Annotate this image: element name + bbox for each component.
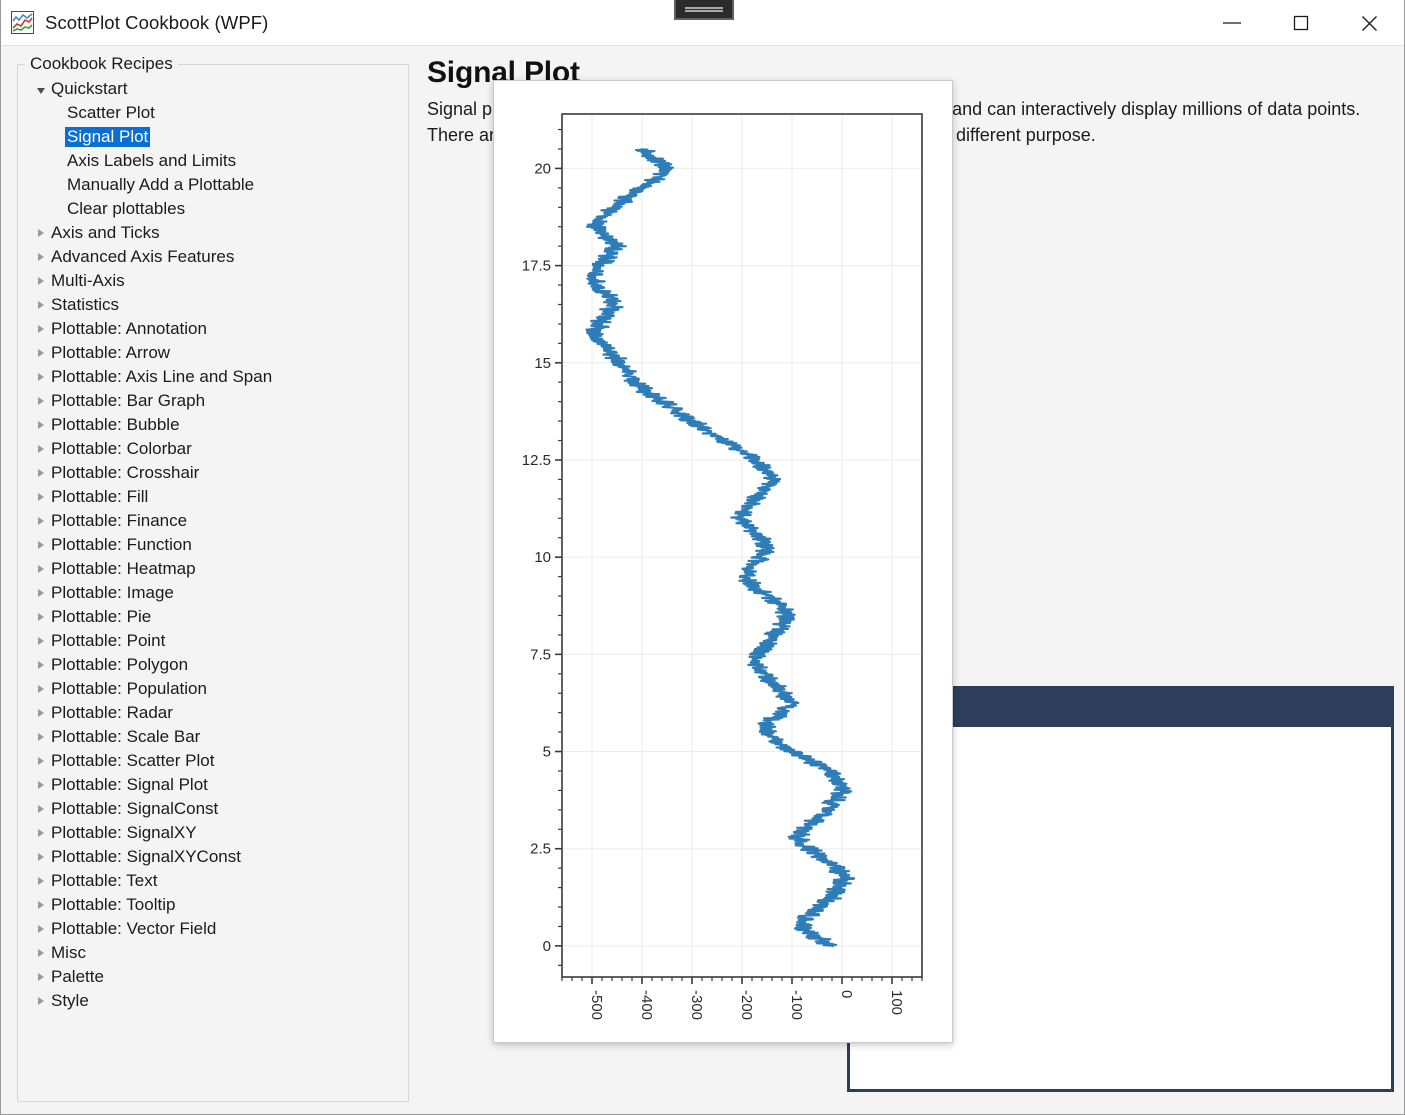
desc-line2-left: There ar xyxy=(427,125,495,145)
chevron-right-icon[interactable] xyxy=(33,901,49,909)
chevron-right-icon[interactable] xyxy=(33,397,49,405)
sidebar-item-advanced-axis-features[interactable]: Advanced Axis Features xyxy=(19,245,407,269)
sidebar-item-label: Plottable: Finance xyxy=(49,511,189,531)
sidebar-item-plottable-radar[interactable]: Plottable: Radar xyxy=(19,701,407,725)
sidebar-item-label: Style xyxy=(49,991,91,1011)
sidebar-item-plottable-text[interactable]: Plottable: Text xyxy=(19,869,407,893)
sidebar-item-multi-axis[interactable]: Multi-Axis xyxy=(19,269,407,293)
chevron-right-icon[interactable] xyxy=(33,253,49,261)
chevron-right-icon[interactable] xyxy=(33,997,49,1005)
capture-bar-handle-icon xyxy=(685,7,723,12)
chevron-right-glyph xyxy=(38,853,44,861)
sidebar-item-label: Plottable: Heatmap xyxy=(49,559,198,579)
sidebar-item-plottable-scale-bar[interactable]: Plottable: Scale Bar xyxy=(19,725,407,749)
sidebar-item-label: Plottable: Arrow xyxy=(49,343,172,363)
chevron-right-glyph xyxy=(38,301,44,309)
sidebar-item-plottable-signalxy[interactable]: Plottable: SignalXY xyxy=(19,821,407,845)
recipes-group-label: Cookbook Recipes xyxy=(25,54,178,74)
sidebar-item-label: Plottable: Polygon xyxy=(49,655,190,675)
chevron-right-icon[interactable] xyxy=(33,421,49,429)
sidebar-item-label: Plottable: SignalXY xyxy=(49,823,199,843)
sidebar-item-label: Plottable: Function xyxy=(49,535,194,555)
sidebar-item-plottable-pie[interactable]: Plottable: Pie xyxy=(19,605,407,629)
sidebar-item-label: Plottable: Tooltip xyxy=(49,895,177,915)
chevron-right-glyph xyxy=(38,973,44,981)
chevron-right-glyph xyxy=(38,925,44,933)
recipes-tree[interactable]: QuickstartScatter PlotSignal PlotAxis La… xyxy=(19,77,407,1100)
sidebar-item-label: Plottable: Annotation xyxy=(49,319,209,339)
chevron-right-glyph xyxy=(38,613,44,621)
sidebar-item-plottable-colorbar[interactable]: Plottable: Colorbar xyxy=(19,437,407,461)
chevron-right-glyph xyxy=(38,685,44,693)
sidebar-item-label: Axis and Ticks xyxy=(49,223,162,243)
sidebar-item-manually-add-a-plottable[interactable]: Manually Add a Plottable xyxy=(19,173,407,197)
floating-plot-window[interactable]: 02.557.51012.51517.520-500-400-300-200-1… xyxy=(493,80,953,1043)
chevron-right-glyph xyxy=(38,709,44,717)
app-window: ScottPlot Cookbook (WPF) xyxy=(0,0,1405,1115)
chevron-right-glyph xyxy=(38,877,44,885)
sidebar-item-statistics[interactable]: Statistics xyxy=(19,293,407,317)
desc-line2-right: different purpose. xyxy=(956,125,1096,145)
sidebar-item-plottable-crosshair[interactable]: Plottable: Crosshair xyxy=(19,461,407,485)
y-tick-label: 2.5 xyxy=(530,841,551,858)
chevron-right-icon[interactable] xyxy=(33,781,49,789)
sidebar-item-plottable-finance[interactable]: Plottable: Finance xyxy=(19,509,407,533)
chevron-right-icon[interactable] xyxy=(33,349,49,357)
sidebar-item-quickstart[interactable]: Quickstart xyxy=(19,77,407,101)
sidebar-item-label: Multi-Axis xyxy=(49,271,127,291)
chevron-right-icon[interactable] xyxy=(33,853,49,861)
sidebar-item-plottable-function[interactable]: Plottable: Function xyxy=(19,533,407,557)
chevron-right-glyph xyxy=(38,949,44,957)
chevron-right-icon[interactable] xyxy=(33,877,49,885)
sidebar-item-palette[interactable]: Palette xyxy=(19,965,407,989)
maximize-icon xyxy=(1293,15,1309,31)
window-title: ScottPlot Cookbook (WPF) xyxy=(45,12,268,34)
sidebar-item-label: Plottable: Scatter Plot xyxy=(49,751,216,771)
chevron-right-glyph xyxy=(38,373,44,381)
chevron-right-icon[interactable] xyxy=(33,541,49,549)
chevron-right-glyph xyxy=(38,661,44,669)
x-tick-label: -400 xyxy=(638,990,655,1020)
sidebar-item-plottable-arrow[interactable]: Plottable: Arrow xyxy=(19,341,407,365)
sidebar-item-label: Statistics xyxy=(49,295,121,315)
chevron-right-glyph xyxy=(38,805,44,813)
chevron-right-icon[interactable] xyxy=(33,805,49,813)
x-tick-label: 100 xyxy=(888,990,905,1015)
close-button[interactable] xyxy=(1335,0,1404,46)
chevron-right-icon[interactable] xyxy=(33,685,49,693)
sidebar-item-axis-and-ticks[interactable]: Axis and Ticks xyxy=(19,221,407,245)
chevron-right-glyph xyxy=(38,565,44,573)
sidebar-item-label: Quickstart xyxy=(49,79,130,99)
sidebar-item-label: Plottable: Crosshair xyxy=(49,463,201,483)
sidebar-item-label: Plottable: Pie xyxy=(49,607,153,627)
sidebar-item-plottable-heatmap[interactable]: Plottable: Heatmap xyxy=(19,557,407,581)
x-tick-label: -500 xyxy=(588,990,605,1020)
sidebar: Cookbook Recipes QuickstartScatter PlotS… xyxy=(1,46,417,1114)
sidebar-item-misc[interactable]: Misc xyxy=(19,941,407,965)
chevron-down-glyph xyxy=(37,88,45,94)
sidebar-item-label: Plottable: Bar Graph xyxy=(49,391,207,411)
y-tick-label: 12.5 xyxy=(522,452,551,469)
sidebar-item-plottable-signalconst[interactable]: Plottable: SignalConst xyxy=(19,797,407,821)
chevron-right-icon[interactable] xyxy=(33,613,49,621)
plot-surface[interactable]: 02.557.51012.51517.520-500-400-300-200-1… xyxy=(494,81,952,1042)
sidebar-item-label: Plottable: Population xyxy=(49,679,209,699)
desc-line1-left: Signal p xyxy=(427,99,492,119)
app-logo-icon xyxy=(11,11,34,34)
chevron-right-icon[interactable] xyxy=(33,637,49,645)
chevron-right-icon[interactable] xyxy=(33,373,49,381)
chevron-right-glyph xyxy=(38,733,44,741)
chevron-right-glyph xyxy=(38,541,44,549)
sidebar-item-plottable-point[interactable]: Plottable: Point xyxy=(19,629,407,653)
chevron-right-icon[interactable] xyxy=(33,565,49,573)
chevron-right-glyph xyxy=(38,517,44,525)
chevron-right-glyph xyxy=(38,637,44,645)
chevron-right-glyph xyxy=(38,589,44,597)
chevron-right-icon[interactable] xyxy=(33,709,49,717)
sidebar-item-plottable-signal-plot[interactable]: Plottable: Signal Plot xyxy=(19,773,407,797)
y-tick-label: 20 xyxy=(534,160,551,177)
chevron-down-icon[interactable] xyxy=(33,85,49,94)
y-tick-label: 0 xyxy=(543,938,551,955)
y-tick-label: 15 xyxy=(534,355,551,372)
chevron-right-icon[interactable] xyxy=(33,925,49,933)
sidebar-item-label: Signal Plot xyxy=(65,127,150,147)
y-tick-label: 7.5 xyxy=(530,646,551,663)
recipes-groupbox: Cookbook Recipes QuickstartScatter PlotS… xyxy=(17,64,409,1102)
sidebar-item-plottable-bar-graph[interactable]: Plottable: Bar Graph xyxy=(19,389,407,413)
chevron-right-icon[interactable] xyxy=(33,469,49,477)
chevron-right-glyph xyxy=(38,277,44,285)
chevron-right-icon[interactable] xyxy=(33,829,49,837)
sidebar-item-plottable-vector-field[interactable]: Plottable: Vector Field xyxy=(19,917,407,941)
sidebar-item-plottable-tooltip[interactable]: Plottable: Tooltip xyxy=(19,893,407,917)
sidebar-item-plottable-population[interactable]: Plottable: Population xyxy=(19,677,407,701)
chevron-right-glyph xyxy=(38,349,44,357)
sidebar-item-label: Plottable: Fill xyxy=(49,487,150,507)
sidebar-item-label: Plottable: Bubble xyxy=(49,415,182,435)
chevron-right-glyph xyxy=(38,997,44,1005)
sidebar-item-label: Plottable: Image xyxy=(49,583,176,603)
sidebar-item-label: Plottable: Text xyxy=(49,871,159,891)
chevron-right-icon[interactable] xyxy=(33,229,49,237)
chevron-right-icon[interactable] xyxy=(33,517,49,525)
chevron-right-icon[interactable] xyxy=(33,589,49,597)
chevron-right-glyph xyxy=(38,469,44,477)
sidebar-item-scatter-plot[interactable]: Scatter Plot xyxy=(19,101,407,125)
desc-line1-right: and can interactively display millions o… xyxy=(952,99,1360,119)
sidebar-item-label: Scatter Plot xyxy=(65,103,157,123)
y-tick-label: 10 xyxy=(534,549,551,566)
screen-capture-bar[interactable] xyxy=(674,0,734,20)
maximize-button[interactable] xyxy=(1266,0,1335,46)
sidebar-item-label: Palette xyxy=(49,967,106,987)
chevron-right-glyph xyxy=(38,493,44,501)
sidebar-item-label: Manually Add a Plottable xyxy=(65,175,256,195)
sidebar-item-label: Plottable: Colorbar xyxy=(49,439,194,459)
chevron-right-glyph xyxy=(38,901,44,909)
minimize-icon xyxy=(1221,17,1243,29)
y-tick-label: 5 xyxy=(543,744,551,761)
close-icon xyxy=(1361,15,1378,32)
sidebar-item-label: Clear plottables xyxy=(65,199,187,219)
sidebar-item-clear-plottables[interactable]: Clear plottables xyxy=(19,197,407,221)
sidebar-item-signal-plot[interactable]: Signal Plot xyxy=(19,125,407,149)
sidebar-item-plottable-polygon[interactable]: Plottable: Polygon xyxy=(19,653,407,677)
chevron-right-icon[interactable] xyxy=(33,661,49,669)
chevron-right-glyph xyxy=(38,229,44,237)
sidebar-item-label: Plottable: SignalConst xyxy=(49,799,220,819)
chevron-right-icon[interactable] xyxy=(33,757,49,765)
x-tick-label: -100 xyxy=(788,990,805,1020)
sidebar-item-plottable-fill[interactable]: Plottable: Fill xyxy=(19,485,407,509)
chevron-right-icon[interactable] xyxy=(33,445,49,453)
chevron-right-glyph xyxy=(38,325,44,333)
sidebar-item-plottable-bubble[interactable]: Plottable: Bubble xyxy=(19,413,407,437)
y-tick-label: 17.5 xyxy=(522,258,551,275)
chevron-right-icon[interactable] xyxy=(33,277,49,285)
chevron-right-glyph xyxy=(38,757,44,765)
sidebar-item-label: Plottable: Signal Plot xyxy=(49,775,210,795)
chevron-right-icon[interactable] xyxy=(33,325,49,333)
sidebar-item-axis-labels-and-limits[interactable]: Axis Labels and Limits xyxy=(19,149,407,173)
sidebar-item-style[interactable]: Style xyxy=(19,989,407,1013)
chevron-right-icon[interactable] xyxy=(33,493,49,501)
window-controls xyxy=(1197,0,1404,46)
chevron-right-glyph xyxy=(38,781,44,789)
sidebar-item-plottable-axis-line-and-span[interactable]: Plottable: Axis Line and Span xyxy=(19,365,407,389)
chevron-right-icon[interactable] xyxy=(33,301,49,309)
sidebar-item-label: Misc xyxy=(49,943,88,963)
sidebar-item-plottable-image[interactable]: Plottable: Image xyxy=(19,581,407,605)
chevron-right-icon[interactable] xyxy=(33,973,49,981)
x-tick-label: 0 xyxy=(838,990,855,998)
chevron-right-glyph xyxy=(38,421,44,429)
x-tick-label: -300 xyxy=(688,990,705,1020)
sidebar-item-label: Plottable: Axis Line and Span xyxy=(49,367,274,387)
sidebar-item-label: Plottable: Vector Field xyxy=(49,919,218,939)
sidebar-item-plottable-signalxyconst[interactable]: Plottable: SignalXYConst xyxy=(19,845,407,869)
chevron-right-glyph xyxy=(38,253,44,261)
chevron-right-glyph xyxy=(38,829,44,837)
sidebar-item-label: Advanced Axis Features xyxy=(49,247,236,267)
chevron-right-icon[interactable] xyxy=(33,733,49,741)
sidebar-item-plottable-scatter-plot[interactable]: Plottable: Scatter Plot xyxy=(19,749,407,773)
sidebar-item-plottable-annotation[interactable]: Plottable: Annotation xyxy=(19,317,407,341)
signal-plot-figure: 02.557.51012.51517.520-500-400-300-200-1… xyxy=(494,81,952,1042)
minimize-button[interactable] xyxy=(1197,0,1266,46)
sidebar-item-label: Plottable: SignalXYConst xyxy=(49,847,243,867)
chevron-right-icon[interactable] xyxy=(33,949,49,957)
sidebar-item-label: Plottable: Scale Bar xyxy=(49,727,202,747)
chevron-right-glyph xyxy=(38,445,44,453)
chevron-right-glyph xyxy=(38,397,44,405)
sidebar-item-label: Plottable: Point xyxy=(49,631,167,651)
sidebar-item-label: Axis Labels and Limits xyxy=(65,151,238,171)
sidebar-item-label: Plottable: Radar xyxy=(49,703,175,723)
x-tick-label: -200 xyxy=(738,990,755,1020)
